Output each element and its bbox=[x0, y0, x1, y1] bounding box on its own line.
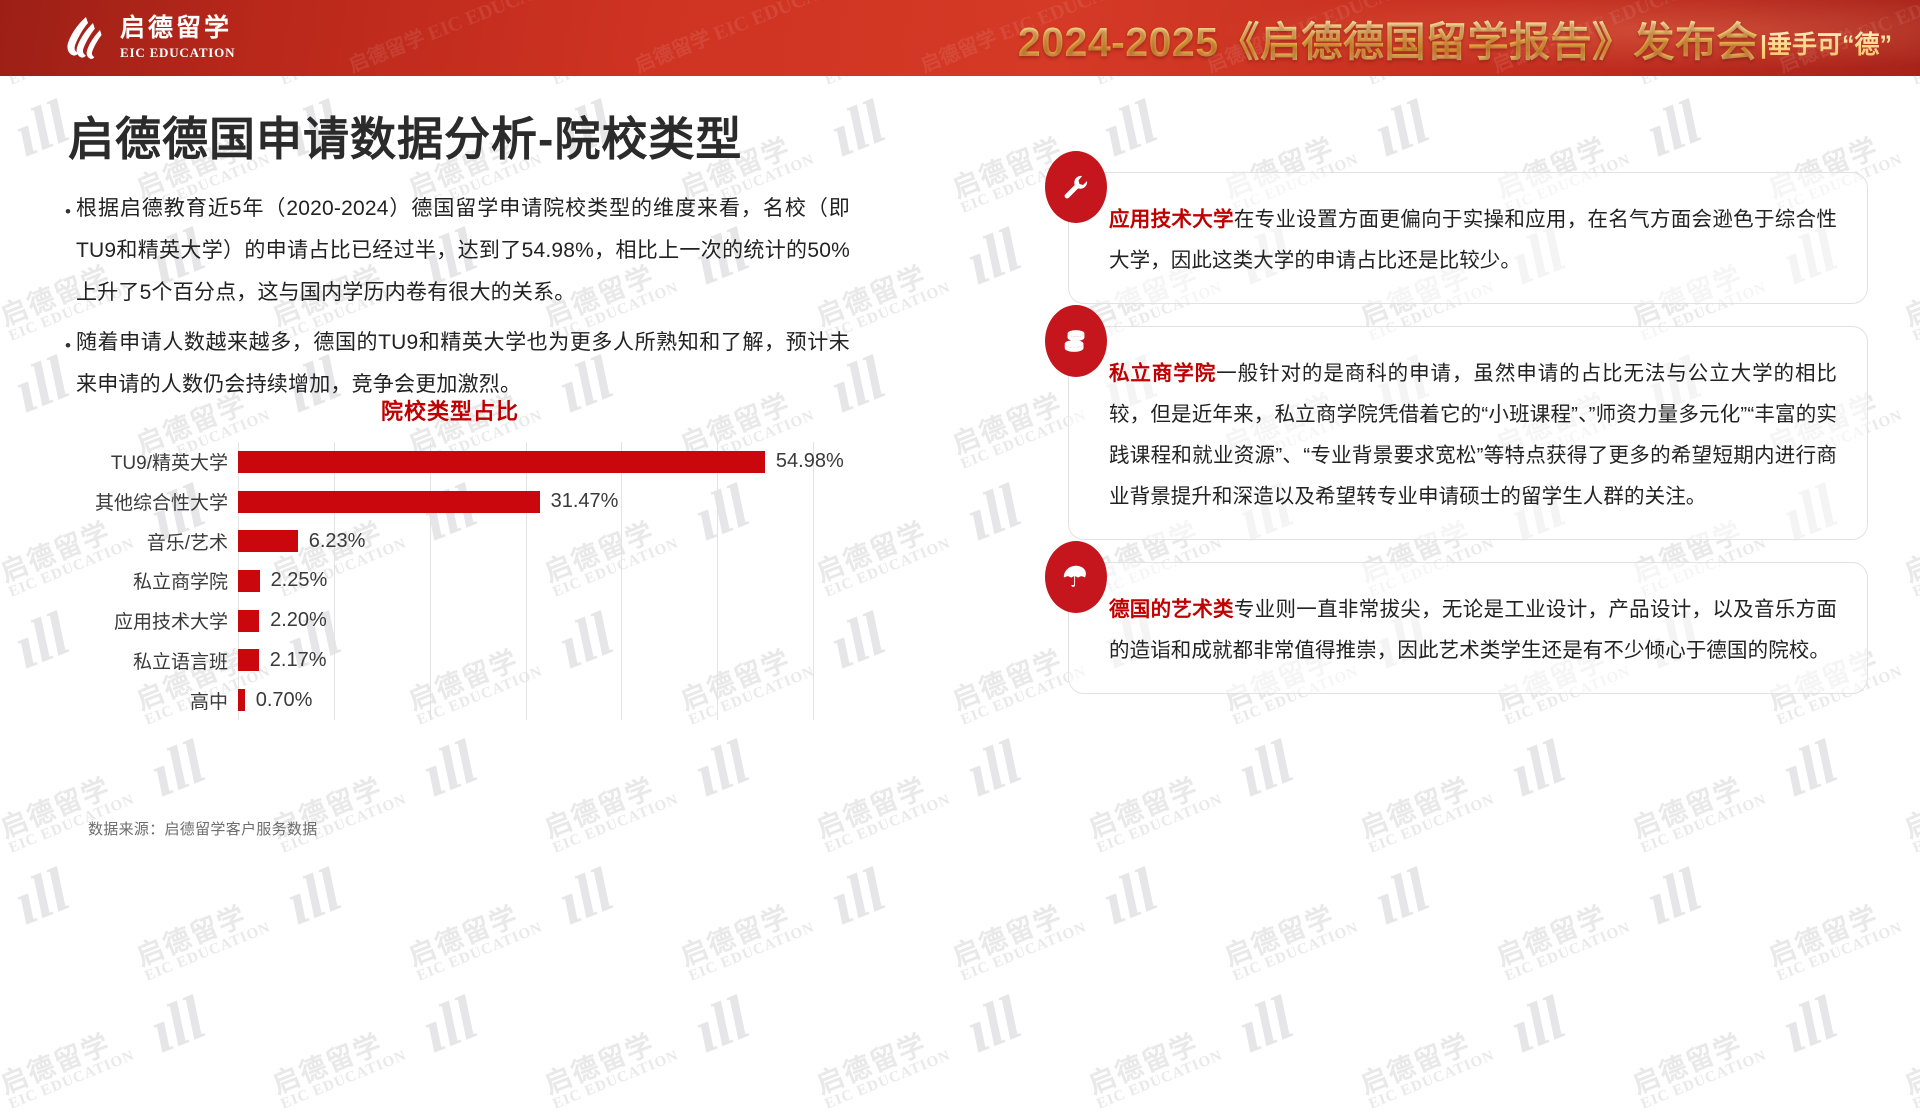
list-item: • 根据启德教育近5年（2020-2024）德国留学申请院校类型的维度来看，名校… bbox=[60, 188, 850, 314]
header-watermark: 启德留学 EIC EDUCATION bbox=[344, 0, 583, 76]
header-title-main: 2024-2025《启德德国留学报告》发布会 bbox=[1018, 8, 1758, 68]
chart-bar bbox=[238, 451, 765, 473]
chart-value-label: 2.17% bbox=[270, 649, 327, 672]
insight-card-text: 私立商学院一般针对的是商科的申请，虽然申请的占比无法与公立大学的相比较，但是近年… bbox=[1109, 353, 1837, 517]
bullet-dot-icon: • bbox=[60, 337, 76, 354]
insight-card-body: 一般针对的是商科的申请，虽然申请的占比无法与公立大学的相比较，但是近年来，私立商… bbox=[1109, 362, 1837, 508]
chart-plot-area: TU9/精英大学54.98%其他综合性大学31.47%音乐/艺术6.23%私立商… bbox=[40, 442, 860, 720]
header-bar: 启德留学 EIC EDUCATION 2024-2025《启德德国留学报告》发布… bbox=[0, 0, 1920, 76]
chart-category-label: 应用技术大学 bbox=[40, 607, 238, 634]
logo-text-en: EIC EDUCATION bbox=[120, 45, 235, 61]
chart-title: 院校类型占比 bbox=[40, 394, 860, 426]
chart-value-label: 2.25% bbox=[271, 569, 328, 592]
chart-bar bbox=[238, 610, 259, 632]
eic-logo-icon bbox=[60, 14, 108, 62]
header-title-sub: |垂手可“德” bbox=[1760, 25, 1892, 70]
chart-bar-row: 其他综合性大学31.47% bbox=[40, 482, 860, 522]
insight-card-keyword: 应用技术大学 bbox=[1109, 208, 1234, 231]
chart-bar-row: 音乐/艺术6.23% bbox=[40, 521, 860, 561]
chart-bar bbox=[238, 689, 245, 711]
chart-category-label: 其他综合性大学 bbox=[40, 488, 238, 515]
umbrella-icon bbox=[1045, 541, 1107, 613]
insight-card-keyword: 私立商学院 bbox=[1109, 362, 1216, 385]
wrench-icon bbox=[1045, 151, 1107, 223]
page-title: 启德德国申请数据分析-院校类型 bbox=[68, 103, 742, 169]
header-watermark: 启德留学 EIC EDUCATION bbox=[630, 0, 869, 76]
insight-card: 应用技术大学在专业设置方面更偏向于实操和应用，在名气方面会逊色于综合性大学，因此… bbox=[1068, 172, 1868, 304]
brand-logo: 启德留学 EIC EDUCATION bbox=[60, 14, 235, 62]
chart-bar bbox=[238, 649, 259, 671]
header-title: 2024-2025《启德德国留学报告》发布会 |垂手可“德” bbox=[1018, 6, 1892, 70]
chart-value-label: 31.47% bbox=[551, 490, 619, 513]
chart-bar-row: 高中0.70% bbox=[40, 680, 860, 720]
insight-card-keyword: 德国的艺术类 bbox=[1109, 598, 1234, 621]
bullet-list: • 根据启德教育近5年（2020-2024）德国留学申请院校类型的维度来看，名校… bbox=[60, 188, 850, 414]
chart-bar-row: 私立商学院2.25% bbox=[40, 561, 860, 601]
insight-card-text: 德国的艺术类专业则一直非常拔尖，无论是工业设计，产品设计，以及音乐方面的造诣和成… bbox=[1109, 589, 1837, 671]
insight-card: 私立商学院一般针对的是商科的申请，虽然申请的占比无法与公立大学的相比较，但是近年… bbox=[1068, 326, 1868, 540]
bullet-text: 根据启德教育近5年（2020-2024）德国留学申请院校类型的维度来看，名校（即… bbox=[76, 188, 850, 314]
chart-value-label: 2.20% bbox=[270, 609, 327, 632]
chart-value-label: 54.98% bbox=[776, 450, 844, 473]
chart-bar bbox=[238, 491, 540, 513]
chart-value-label: 6.23% bbox=[309, 530, 366, 553]
chart-category-label: 音乐/艺术 bbox=[40, 528, 238, 555]
chart-bar-row: 应用技术大学2.20% bbox=[40, 601, 860, 641]
insight-card-list: 应用技术大学在专业设置方面更偏向于实操和应用，在名气方面会逊色于综合性大学，因此… bbox=[1068, 172, 1868, 716]
chart-category-label: 私立商学院 bbox=[40, 567, 238, 594]
chart-bar-row: TU9/精英大学54.98% bbox=[40, 442, 860, 482]
chart-category-label: 高中 bbox=[40, 687, 238, 714]
insight-card-text: 应用技术大学在专业设置方面更偏向于实操和应用，在名气方面会逊色于综合性大学，因此… bbox=[1109, 199, 1837, 281]
bullet-dot-icon: • bbox=[60, 203, 76, 220]
chart-category-label: TU9/精英大学 bbox=[40, 448, 238, 475]
slide-body: 启德德国申请数据分析-院校类型 • 根据启德教育近5年（2020-2024）德国… bbox=[0, 76, 1920, 1080]
coins-icon bbox=[1045, 305, 1107, 377]
logo-text-cn: 启德留学 bbox=[120, 15, 235, 43]
chart-category-label: 私立语言班 bbox=[40, 647, 238, 674]
chart-bar bbox=[238, 530, 298, 552]
source-note: 数据来源：启德留学客户服务数据 bbox=[88, 818, 318, 839]
chart-bar bbox=[238, 570, 260, 592]
chart-bar-row: 私立语言班2.17% bbox=[40, 641, 860, 681]
insight-card: 德国的艺术类专业则一直非常拔尖，无论是工业设计，产品设计，以及音乐方面的造诣和成… bbox=[1068, 562, 1868, 694]
chart-value-label: 0.70% bbox=[256, 689, 313, 712]
bar-chart: 院校类型占比 TU9/精英大学54.98%其他综合性大学31.47%音乐/艺术6… bbox=[40, 394, 860, 724]
